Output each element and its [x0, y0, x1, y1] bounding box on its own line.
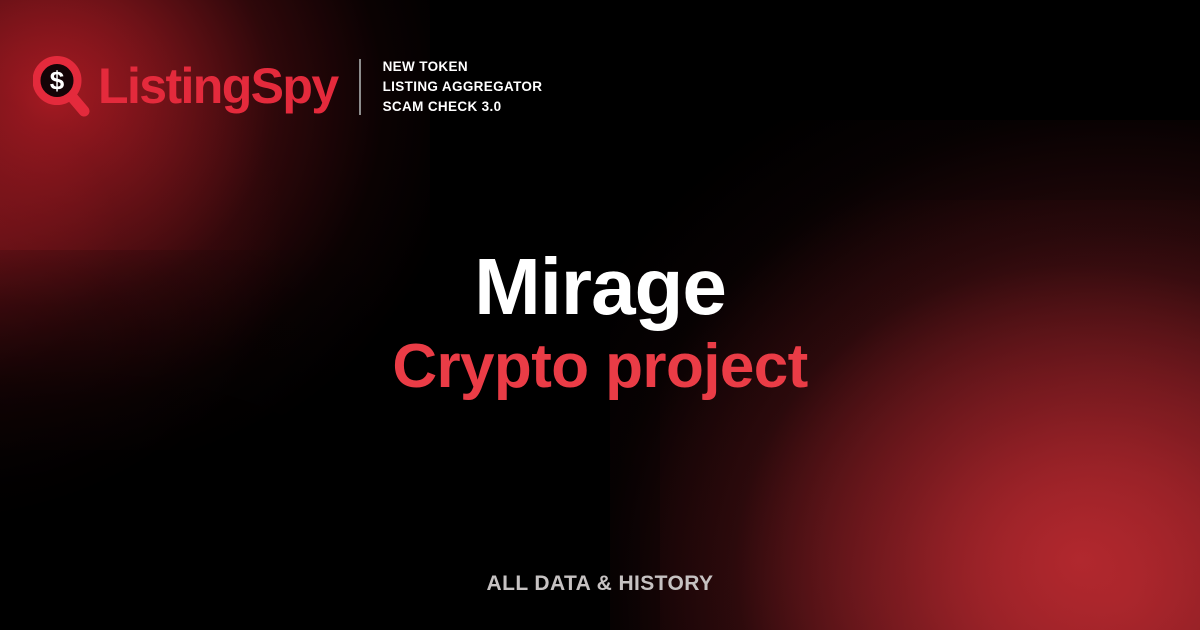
page-subtitle: Crypto project	[0, 334, 1200, 401]
tagline-line-3: SCAM CHECK 3.0	[383, 98, 543, 116]
dollar-symbol: $	[50, 66, 65, 96]
tagline-line-2: LISTING AGGREGATOR	[383, 78, 543, 96]
promo-card: $ ListingSpy NEW TOKEN LISTING AGGREGATO…	[0, 0, 1200, 630]
brand-header: $ ListingSpy NEW TOKEN LISTING AGGREGATO…	[33, 56, 542, 118]
magnifier-dollar-icon: $	[33, 56, 91, 118]
brand-tagline: NEW TOKEN LISTING AGGREGATOR SCAM CHECK …	[383, 58, 543, 115]
tagline-line-1: NEW TOKEN	[383, 58, 543, 76]
page-title: Mirage	[0, 246, 1200, 328]
header-divider	[359, 59, 361, 115]
footer-caption: ALL DATA & HISTORY	[0, 572, 1200, 596]
footer-block: ALL DATA & HISTORY	[0, 572, 1200, 596]
hero-block: Mirage Crypto project	[0, 246, 1200, 401]
brand-wordmark: ListingSpy	[98, 61, 338, 111]
